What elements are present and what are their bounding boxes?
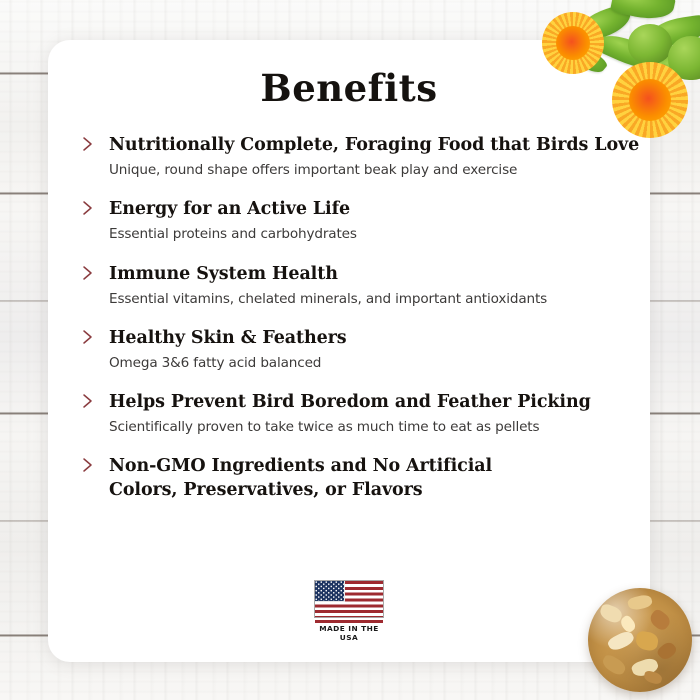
badge-rule	[315, 620, 383, 623]
benefit-heading: Immune System Health	[109, 263, 641, 287]
list-item: Nutritionally Complete, Foraging Food th…	[81, 134, 641, 180]
made-in-usa-badge: MADE IN THE USA	[310, 580, 388, 642]
chevron-right-icon	[81, 329, 97, 347]
bird-food-ball	[588, 588, 692, 692]
benefit-subtext: Essential vitamins, chelated minerals, a…	[109, 290, 641, 309]
chevron-right-icon	[81, 457, 97, 475]
flag-canton-stars	[315, 581, 345, 602]
benefit-heading: Energy for an Active Life	[109, 198, 641, 222]
chevron-right-icon	[81, 136, 97, 154]
usa-flag-icon	[314, 580, 384, 618]
benefit-heading: Nutritionally Complete, Foraging Food th…	[109, 134, 641, 158]
list-item: Non-GMO Ingredients and No Artificial Co…	[81, 455, 641, 503]
list-item: Immune System Health Essential vitamins,…	[81, 263, 641, 309]
benefits-card: Benefits Nutritionally Complete, Foragin…	[48, 40, 650, 662]
page-title: Benefits	[48, 66, 650, 110]
benefit-subtext: Omega 3&6 fatty acid balanced	[109, 354, 641, 373]
benefit-subtext: Unique, round shape offers important bea…	[109, 161, 641, 180]
list-item: Healthy Skin & Feathers Omega 3&6 fatty …	[81, 327, 641, 373]
badge-label: MADE IN THE USA	[310, 624, 388, 642]
chevron-right-icon	[81, 393, 97, 411]
benefits-list: Nutritionally Complete, Foraging Food th…	[81, 134, 641, 503]
benefit-heading: Non-GMO Ingredients and No Artificial Co…	[109, 455, 559, 503]
benefit-subtext: Essential proteins and carbohydrates	[109, 225, 641, 244]
product-benefits-graphic: Benefits Nutritionally Complete, Foragin…	[0, 0, 700, 700]
benefit-heading: Healthy Skin & Feathers	[109, 327, 641, 351]
chevron-right-icon	[81, 265, 97, 283]
benefit-heading: Helps Prevent Bird Boredom and Feather P…	[109, 391, 641, 415]
list-item: Helps Prevent Bird Boredom and Feather P…	[81, 391, 641, 437]
chevron-right-icon	[81, 200, 97, 218]
benefit-subtext: Scientifically proven to take twice as m…	[109, 418, 641, 437]
list-item: Energy for an Active Life Essential prot…	[81, 198, 641, 244]
